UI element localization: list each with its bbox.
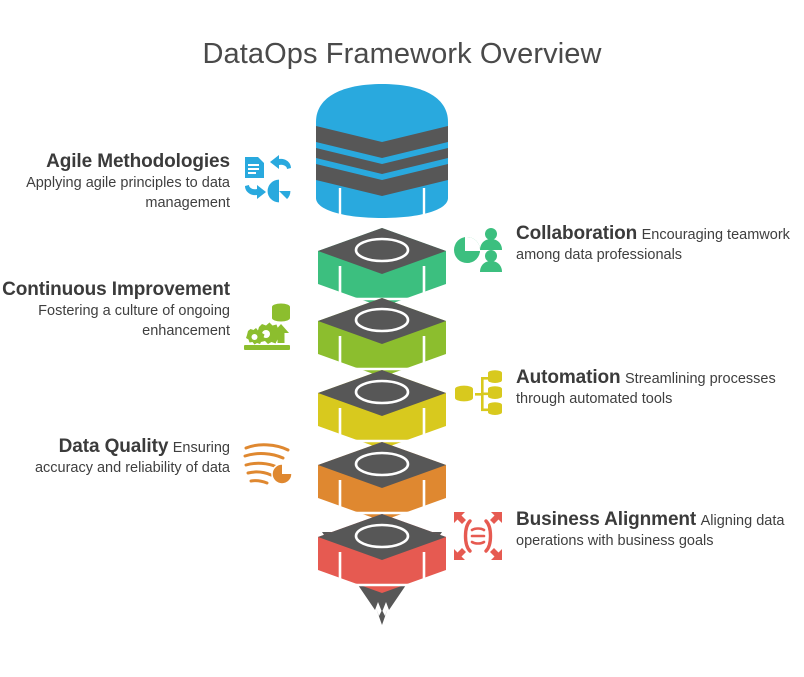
funnel-segment-orange	[318, 442, 446, 521]
feature-text-block: Automation Streamlining processes throug…	[516, 366, 792, 409]
gears-growth-icon	[242, 300, 294, 352]
feature-description: Applying agile principles to data manage…	[26, 175, 230, 211]
feature-text-block: Business Alignment Aligning data operati…	[516, 508, 792, 551]
feature-description: Fostering a culture of ongoing enhanceme…	[38, 303, 230, 339]
feature-continuous-improvement[interactable]: Continuous Improvement Fostering a cultu…	[0, 278, 294, 352]
feature-title: Agile Methodologies	[46, 151, 230, 172]
feature-title: Collaboration	[516, 223, 637, 244]
database-pipeline-icon	[452, 368, 504, 420]
feature-title: Automation	[516, 367, 621, 388]
funnel-diagram	[296, 80, 468, 640]
data-flow-quality-icon	[242, 439, 294, 491]
feature-collaboration[interactable]: Collaboration Encouraging teamwork among…	[452, 222, 792, 276]
feature-text-block: Continuous Improvement Fostering a cultu…	[0, 278, 230, 341]
feature-title: Business Alignment	[516, 509, 696, 530]
feature-agile-methodologies[interactable]: Agile Methodologies Applying agile princ…	[0, 150, 294, 213]
feature-business-alignment[interactable]: Business Alignment Aligning data operati…	[452, 508, 792, 562]
feature-title: Data Quality	[59, 436, 169, 457]
funnel-segment-blue	[316, 84, 448, 218]
alignment-target-icon	[452, 510, 504, 562]
feature-text-block: Collaboration Encouraging teamwork among…	[516, 222, 792, 265]
feature-automation[interactable]: Automation Streamlining processes throug…	[452, 366, 792, 420]
infographic-canvas: DataOps Framework Overview	[0, 0, 804, 677]
feature-text-block: Agile Methodologies Applying agile princ…	[0, 150, 230, 213]
team-collaboration-icon	[452, 224, 504, 276]
funnel-segment-red	[318, 514, 446, 593]
feature-text-block: Data Quality Ensuring accuracy and relia…	[0, 435, 230, 478]
feature-title: Continuous Improvement	[2, 279, 230, 300]
agile-cycle-icon	[242, 154, 294, 206]
feature-data-quality[interactable]: Data Quality Ensuring accuracy and relia…	[0, 435, 294, 491]
page-title: DataOps Framework Overview	[0, 38, 804, 71]
funnel-segment-yellow	[318, 370, 446, 449]
funnel-segment-green	[318, 228, 446, 307]
funnel-segment-lime	[318, 298, 446, 377]
